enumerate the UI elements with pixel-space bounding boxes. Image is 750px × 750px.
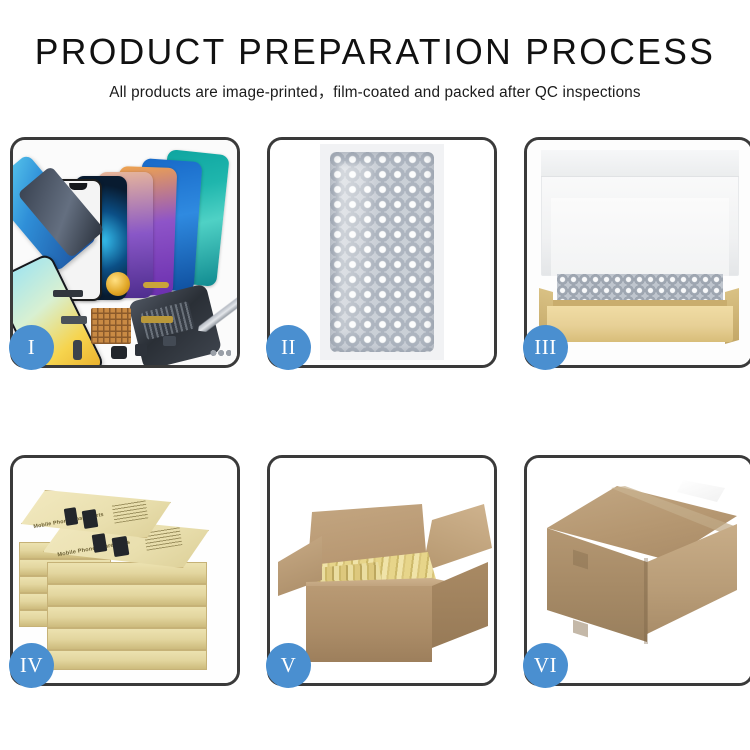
process-step-5[interactable]: V [267, 455, 497, 686]
step-badge-2: II [266, 325, 311, 370]
process-step-1[interactable]: I [10, 137, 240, 368]
process-step-grid: I II III [10, 137, 734, 686]
page-header: PRODUCT PREPARATION PROCESS All products… [0, 0, 750, 102]
stacked-box-front-5 [47, 650, 207, 670]
bubble-wrap-highlight [338, 164, 372, 334]
carton-side-panel [432, 562, 488, 648]
carton-front-panel [306, 586, 432, 662]
connector-strip-part [53, 290, 83, 297]
carton-tape-end [677, 480, 725, 502]
speaker-part [135, 344, 147, 356]
phone-notch [69, 183, 87, 190]
process-step-2[interactable]: II [267, 137, 497, 368]
step-badge-3: III [523, 325, 568, 370]
inner-box-front-panel [547, 306, 733, 342]
carton-right-flap [422, 504, 492, 572]
flex-cable-part-3 [61, 316, 87, 324]
button-part [73, 340, 82, 360]
process-step-4[interactable]: Mobile Phone Spare Parts Mobile Phone Sp… [10, 455, 240, 686]
box-label-phone-image-2a [92, 533, 108, 553]
flex-cable-part-2 [141, 316, 173, 323]
page-subtitle: All products are image-printed，film-coat… [0, 71, 750, 102]
tweezers-tool [198, 287, 237, 337]
step-badge-6: VI [523, 643, 568, 688]
inner-box-lid-fold [541, 150, 739, 177]
step-badge-5: V [266, 643, 311, 688]
flex-cable-part-1 [143, 282, 169, 288]
page-title: PRODUCT PREPARATION PROCESS [6, 0, 745, 71]
box-label-phone-image-2b [112, 536, 130, 557]
bubble-wrap-bag [320, 144, 444, 360]
stacked-box-front-2 [47, 584, 207, 606]
box-label-phone-image-1b [82, 509, 99, 529]
stacked-box-front-3 [47, 606, 207, 628]
sim-tray-part [163, 336, 176, 346]
copper-mesh-part [91, 308, 131, 344]
process-step-3[interactable]: III [524, 137, 750, 368]
foam-padding [551, 198, 729, 276]
box-label-phone-image-1a [64, 507, 79, 526]
step-badge-4: IV [9, 643, 54, 688]
vibration-motor-part [106, 272, 130, 296]
step-badge-1: I [9, 325, 54, 370]
screws-part [209, 348, 231, 358]
process-step-6[interactable]: VI [524, 455, 750, 686]
sealed-carton-corner-seam [644, 558, 648, 644]
camera-module-part [111, 346, 127, 359]
stacked-box-front-4 [47, 628, 207, 650]
